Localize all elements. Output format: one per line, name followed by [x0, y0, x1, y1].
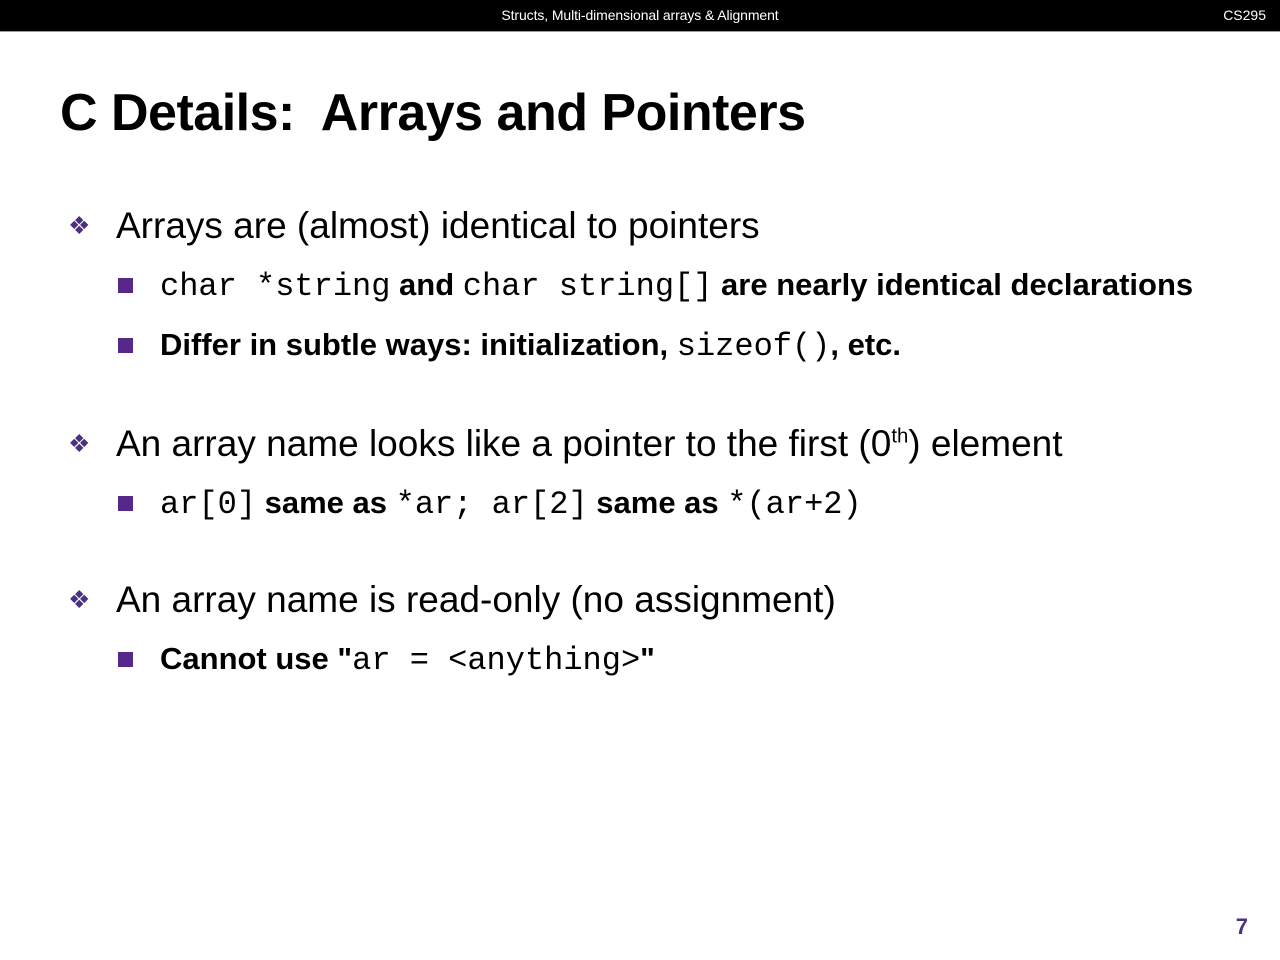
sub-bullet-cannot-assign: Cannot use "ar = <anything>" [60, 630, 1240, 690]
code-snippet: *ar; ar[2] [396, 486, 588, 523]
bullet-group-2: ❖ An array name looks like a pointer to … [60, 414, 1240, 534]
code-snippet: sizeof() [677, 328, 831, 365]
bullet-item-array-name-readonly: ❖ An array name is read-only (no assignm… [60, 570, 1240, 630]
code-snippet: *(ar+2) [727, 486, 861, 523]
ordinal-superscript: th [891, 426, 908, 448]
sub-bullet-text: char *string and char string[] are nearl… [160, 267, 1193, 302]
diamond-bullet-icon: ❖ [68, 196, 102, 256]
slide-header-bar: Structs, Multi-dimensional arrays & Alig… [0, 0, 1280, 32]
code-snippet: ar = <anything> [352, 642, 640, 679]
diamond-bullet-icon: ❖ [68, 570, 102, 630]
bullet-text-prefix: An array name looks like a pointer to th… [116, 423, 891, 464]
prose-fragment: Cannot use " [160, 641, 352, 676]
square-bullet-icon [118, 652, 133, 667]
bullet-group-3: ❖ An array name is read-only (no assignm… [60, 570, 1240, 690]
sub-bullet-text: ar[0] same as *ar; ar[2] same as *(ar+2) [160, 485, 862, 520]
sub-bullet-differ-subtle-ways: Differ in subtle ways: initialization, s… [60, 316, 1240, 376]
prose-fragment: same as [256, 485, 396, 520]
slide-title: C Details: Arrays and Pointers [60, 82, 805, 144]
sub-bullet-text: Differ in subtle ways: initialization, s… [160, 327, 901, 362]
diamond-bullet-icon: ❖ [68, 414, 102, 474]
section-spacer [60, 534, 1240, 570]
page-number: 7 [1236, 914, 1248, 940]
bullet-text-suffix: ) element [908, 423, 1062, 464]
header-course-code: CS295 [1223, 7, 1266, 23]
bullet-text: Arrays are (almost) identical to pointer… [116, 205, 760, 246]
code-snippet: ar[0] [160, 486, 256, 523]
code-snippet: char string[] [463, 268, 713, 305]
prose-fragment: are nearly identical declarations [712, 267, 1193, 302]
bullet-item-arrays-identical: ❖ Arrays are (almost) identical to point… [60, 196, 1240, 256]
prose-fragment: " [640, 641, 655, 676]
square-bullet-icon [118, 278, 133, 293]
square-bullet-icon [118, 338, 133, 353]
section-spacer [60, 376, 1240, 414]
prose-fragment: same as [588, 485, 728, 520]
header-topic-title: Structs, Multi-dimensional arrays & Alig… [0, 7, 1280, 23]
code-snippet: char *string [160, 268, 390, 305]
prose-fragment: and [390, 267, 462, 302]
bullet-text: An array name is read-only (no assignmen… [116, 579, 836, 620]
sub-bullet-text: Cannot use "ar = <anything>" [160, 641, 655, 676]
sub-bullet-ar-indexing: ar[0] same as *ar; ar[2] same as *(ar+2) [60, 474, 1240, 534]
bullet-group-1: ❖ Arrays are (almost) identical to point… [60, 196, 1240, 376]
bullet-item-array-name-pointer: ❖ An array name looks like a pointer to … [60, 414, 1240, 474]
square-bullet-icon [118, 496, 133, 511]
prose-fragment: Differ in subtle ways: initialization, [160, 327, 677, 362]
sub-bullet-char-string-declarations: char *string and char string[] are nearl… [60, 256, 1240, 316]
slide-body: ❖ Arrays are (almost) identical to point… [60, 196, 1240, 690]
prose-fragment: , etc. [830, 327, 901, 362]
bullet-text: An array name looks like a pointer to th… [116, 423, 1063, 464]
